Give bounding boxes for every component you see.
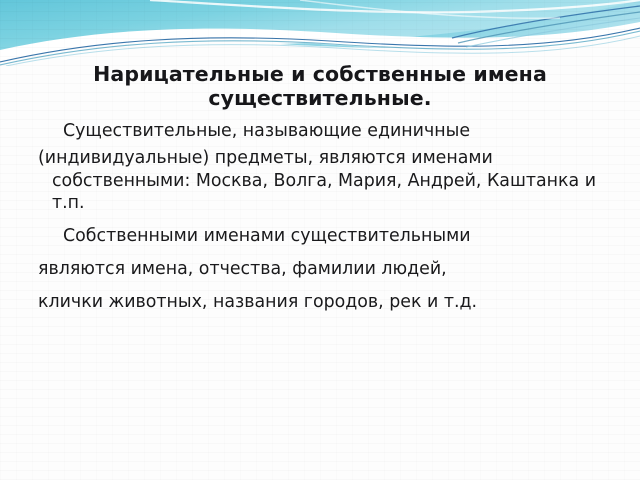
body-paragraph: Существительные, называющие единичные xyxy=(0,120,640,143)
wave-banner-graphic xyxy=(0,0,640,66)
slide-body: Существительные, называющие единичные (и… xyxy=(0,120,640,318)
slide-title: Нарицательные и собственные имена сущест… xyxy=(26,62,614,110)
body-paragraph: являются имена, отчества, фамилии людей, xyxy=(0,258,640,281)
wave-banner-decoration xyxy=(0,0,640,66)
slide-canvas: Нарицательные и собственные имена сущест… xyxy=(0,0,640,480)
body-paragraph: (индивидуальные) предметы, являются имен… xyxy=(0,147,640,215)
slide-title-text: Нарицательные и собственные имена сущест… xyxy=(26,62,614,110)
body-paragraph: Собственными именами существительными xyxy=(0,225,640,248)
body-paragraph: клички животных, названия городов, рек и… xyxy=(0,291,640,314)
